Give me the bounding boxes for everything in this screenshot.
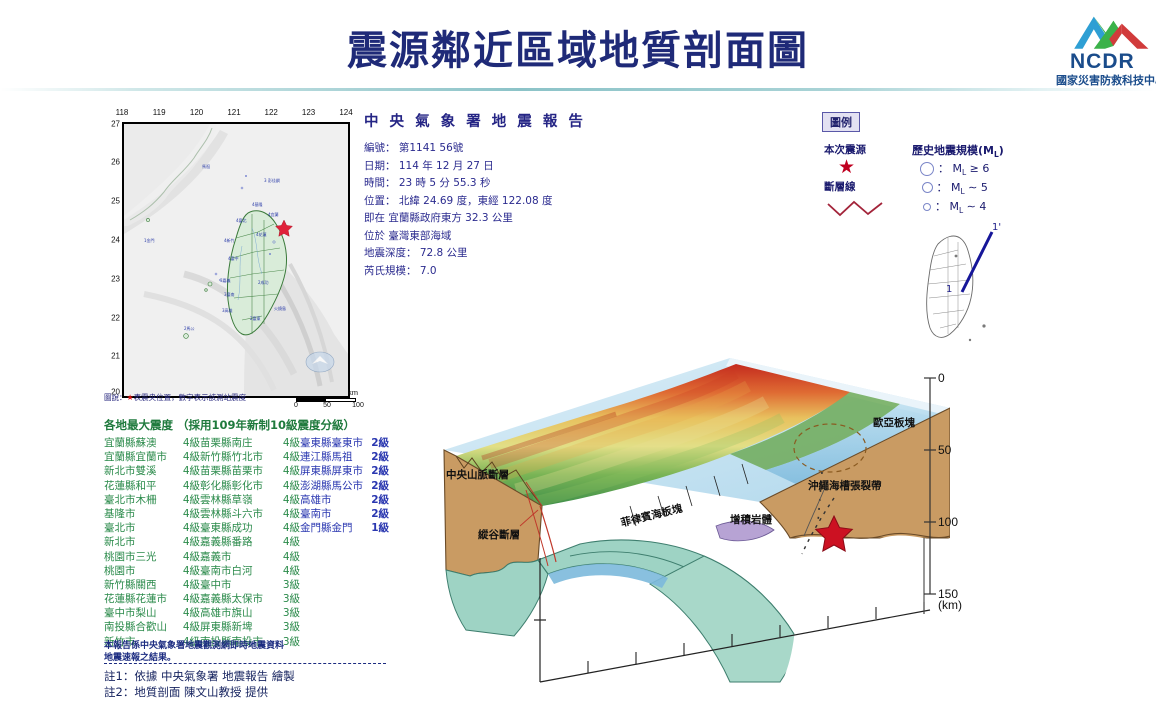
- legend-panel: 圖例 本次震源 ★ 斷層線 歷史地震規模(ML) ： ML ≥ 6： ML ∼ …: [822, 112, 1052, 232]
- station-name: 桃園市三光: [104, 550, 172, 564]
- intensity-cell-col2: 臺南市白河4級: [200, 564, 300, 578]
- source-note-line1: 本報告係中央氣象署地震觀測網即時地震資料: [104, 640, 284, 652]
- station-name: 桃園市: [104, 564, 172, 578]
- legend-magnitude-scale: 歷史地震規模(ML) ： ML ≥ 6： ML ∼ 5： ML ∼ 4: [912, 142, 1052, 216]
- svg-text:2成功: 2成功: [258, 279, 269, 285]
- svg-text:4新竹: 4新竹: [224, 237, 235, 243]
- station-intensity: 1級: [364, 521, 389, 535]
- intensity-cell-col3: [300, 635, 389, 649]
- intensity-row: 南投縣合歡山4級屏東縣新埤3級: [104, 620, 389, 634]
- station-intensity: 4級: [272, 464, 300, 478]
- lat-tick: 27: [111, 120, 120, 129]
- lat-tick: 26: [111, 158, 120, 167]
- slide-root: 震源鄰近區域地質剖面圖 NCDR 國家災害防救科技中心 118 119 120 …: [0, 0, 1156, 720]
- map-graphic: 馬祖 3 彭佳嶼 4基隆 4宜蘭 4臺北 4新竹 4臺中 4花蓮 3嘉義 3臺南…: [124, 124, 348, 396]
- lon-tick: 118: [116, 108, 129, 117]
- legend-magnitude-text: ： ML ≥ 6: [938, 160, 989, 177]
- station-name: 新北市: [104, 535, 172, 549]
- intensity-cell-col2: 高雄市旗山3級: [200, 606, 300, 620]
- station-intensity: 2級: [364, 493, 389, 507]
- intensity-cell-col3: 屏東縣屏東市2級: [300, 464, 389, 478]
- cross-section-label-start: 1: [946, 284, 952, 295]
- station-intensity: 4級: [172, 535, 200, 549]
- report-line-location: 位置： 北緯 24.69 度，東經 122.08 度: [364, 193, 624, 211]
- intensity-row: 臺北市木柵4級雲林縣草嶺4級高雄市2級: [104, 493, 389, 507]
- intensity-cell-col2: 臺東縣成功4級: [200, 521, 300, 535]
- legend-magnitude-title-text: 歷史地震規模(M: [912, 144, 994, 157]
- station-intensity: 4級: [172, 550, 200, 564]
- intensity-cell-col2: 苗栗縣苗栗市4級: [200, 464, 300, 478]
- station-name: 臺北市: [104, 521, 172, 535]
- legend-symbols: 本次震源 ★ 斷層線: [824, 142, 902, 223]
- intensity-cell-col3: [300, 620, 389, 634]
- svg-text:3高雄: 3高雄: [222, 307, 233, 313]
- intensity-cell-col1: 臺北市4級: [104, 521, 200, 535]
- station-name: 宜蘭縣宜蘭市: [104, 450, 172, 464]
- station-name: 臺北市木柵: [104, 493, 172, 507]
- intensity-table-title: 各地最大震度 （採用109年新制10級震度分級）: [104, 417, 355, 433]
- svg-text:2臺東: 2臺東: [250, 315, 261, 321]
- svg-text:火燒島: 火燒島: [274, 305, 286, 311]
- station-name: 新竹縣竹北市: [200, 450, 272, 464]
- intensity-row: 宜蘭縣蘇澳4級苗栗縣南庄4級臺東縣臺東市2級: [104, 436, 389, 450]
- legend-star-icon: ★: [838, 157, 902, 179]
- station-name: 新北市雙溪: [104, 464, 172, 478]
- lat-tick: 23: [111, 275, 120, 284]
- intensity-cell-col3: 澎湖縣馬公市2級: [300, 479, 389, 493]
- earthquake-report: 中 央 氣 象 署 地 震 報 告 編號： 第1141 56號 日期： 114 …: [364, 110, 624, 280]
- intensity-row: 臺北市4級臺東縣成功4級金門縣金門1級: [104, 521, 389, 535]
- label-eurasian-plate: 歐亞板塊: [873, 415, 915, 430]
- magnitude-circle-icon: [920, 162, 934, 176]
- station-intensity: 4級: [272, 450, 300, 464]
- station-name: 彰化縣彰化市: [200, 479, 272, 493]
- report-line-time: 時間： 23 時 5 分 55.3 秒: [364, 175, 624, 193]
- station-name: 雲林縣斗六市: [200, 507, 272, 521]
- station-intensity: 3級: [272, 606, 300, 620]
- legend-magnitude-text: ： ML ∼ 5: [937, 179, 988, 196]
- epicenter-map: 118 119 120 121 122 123 124 27 26 25 24 …: [104, 108, 356, 408]
- intensity-cell-col2: 嘉義縣番路4級: [200, 535, 300, 549]
- station-intensity: 4級: [172, 606, 200, 620]
- scalebar-tick: 0: [294, 402, 298, 409]
- station-name: 苗栗縣南庄: [200, 436, 272, 450]
- intensity-row: 新北市4級嘉義縣番路4級: [104, 535, 389, 549]
- station-name: 高雄市旗山: [200, 606, 272, 620]
- geologic-cross-section: 中央山脈斷層 縱谷斷層 菲律賓海板塊 增積岩體 歐亞板塊 沖繩海槽張裂帶: [430, 330, 950, 710]
- map-longitude-axis: 118 119 120 121 122 123 124: [122, 108, 346, 122]
- report-line-region: 位於 臺灣東部海域: [364, 228, 624, 246]
- lat-tick: 25: [111, 197, 120, 206]
- label-central-range-fault: 中央山脈斷層: [446, 467, 509, 482]
- station-name: 屏東縣屏東市: [300, 464, 364, 478]
- map-scalebar: km 0 50 100: [296, 388, 358, 412]
- station-intensity: 3級: [272, 592, 300, 606]
- station-intensity: 4級: [272, 436, 300, 450]
- intensity-row: 臺中市梨山4級高雄市旗山3級: [104, 606, 389, 620]
- fault-line-icon: [824, 198, 890, 218]
- station-name: 苗栗縣苗栗市: [200, 464, 272, 478]
- slide-header: 震源鄰近區域地質剖面圖 NCDR 國家災害防救科技中心: [0, 0, 1156, 90]
- scalebar-ticks: 0 50 100: [296, 402, 358, 412]
- ncdr-logo: NCDR 國家災害防救科技中心: [1056, 12, 1154, 88]
- station-intensity: 4級: [172, 620, 200, 634]
- station-intensity: 3級: [272, 578, 300, 592]
- page-title: 震源鄰近區域地質剖面圖: [0, 18, 1156, 76]
- report-line-depth: 地震深度： 72.8 公里: [364, 245, 624, 263]
- legend-fault-label: 斷層線: [824, 179, 902, 194]
- lon-tick: 122: [264, 108, 277, 117]
- intensity-cell-col1: 宜蘭縣宜蘭市4級: [104, 450, 200, 464]
- lat-tick: 21: [111, 352, 120, 361]
- intensity-cell-col2: 新竹縣竹北市4級: [200, 450, 300, 464]
- station-name: 嘉義縣番路: [200, 535, 272, 549]
- station-intensity: 4級: [172, 521, 200, 535]
- intensity-cell-col2: 嘉義市4級: [200, 550, 300, 564]
- intensity-cell-col3: 臺南市2級: [300, 507, 389, 521]
- legend-magnitude-title: 歷史地震規模(ML): [912, 142, 1052, 159]
- station-name: 臺南市: [300, 507, 364, 521]
- lon-tick: 119: [153, 108, 166, 117]
- intensity-row: 花蓮縣和平4級彰化縣彰化市4級澎湖縣馬公市2級: [104, 479, 389, 493]
- intensity-cell-col3: 臺東縣臺東市2級: [300, 436, 389, 450]
- map-canvas[interactable]: 馬祖 3 彭佳嶼 4基隆 4宜蘭 4臺北 4新竹 4臺中 4花蓮 3嘉義 3臺南…: [122, 122, 350, 398]
- intensity-cell-col1: 宜蘭縣蘇澳4級: [104, 436, 200, 450]
- cross-section-label-end: 1': [992, 222, 1001, 233]
- station-intensity: 4級: [272, 521, 300, 535]
- station-intensity: 4級: [172, 436, 200, 450]
- intensity-row: 新北市雙溪4級苗栗縣苗栗市4級屏東縣屏東市2級: [104, 464, 389, 478]
- intensity-cell-col3: [300, 550, 389, 564]
- station-intensity: 2級: [364, 464, 389, 478]
- station-intensity: 4級: [272, 479, 300, 493]
- svg-text:馬祖: 馬祖: [202, 163, 210, 169]
- report-line-number: 編號： 第1141 56號: [364, 140, 624, 158]
- station-name: 臺南市白河: [200, 564, 272, 578]
- intensity-table: 宜蘭縣蘇澳4級苗栗縣南庄4級臺東縣臺東市2級宜蘭縣宜蘭市4級新竹縣竹北市4級連江…: [104, 436, 389, 649]
- lat-tick: 22: [111, 314, 120, 323]
- intensity-cell-col1: 桃園市三光4級: [104, 550, 200, 564]
- map-caption-prefix: 圖說：: [104, 393, 127, 402]
- intensity-row: 新竹縣關西4級臺中市3級: [104, 578, 389, 592]
- station-name: 宜蘭縣蘇澳: [104, 436, 172, 450]
- station-intensity: 4級: [272, 493, 300, 507]
- intensity-row: 宜蘭縣宜蘭市4級新竹縣竹北市4級連江縣馬祖2級: [104, 450, 389, 464]
- intensity-cell-col2: 屏東縣新埤3級: [200, 620, 300, 634]
- station-intensity: 4級: [172, 464, 200, 478]
- map-caption: 圖說：★表震央位置，數字表示該測站震度: [104, 392, 304, 403]
- station-intensity: 3級: [272, 620, 300, 634]
- intensity-cell-col1: 新北市4級: [104, 535, 200, 549]
- intensity-cell-col2: 嘉義縣太保市3級: [200, 592, 300, 606]
- intensity-cell-col2: 苗栗縣南庄4級: [200, 436, 300, 450]
- lon-tick: 124: [339, 108, 352, 117]
- scalebar-tick: 100: [352, 402, 364, 409]
- intensity-cell-col2: 雲林縣草嶺4級: [200, 493, 300, 507]
- intensity-cell-col2: 臺中市3級: [200, 578, 300, 592]
- intensity-cell-col2: 雲林縣斗六市4級: [200, 507, 300, 521]
- station-name: 金門縣金門: [300, 521, 364, 535]
- intensity-cell-col3: [300, 535, 389, 549]
- intensity-cell-col1: 臺北市木柵4級: [104, 493, 200, 507]
- station-name: 雲林縣草嶺: [200, 493, 272, 507]
- report-title: 中 央 氣 象 署 地 震 報 告: [364, 110, 624, 131]
- station-intensity: 2級: [364, 507, 389, 521]
- intensity-row: 桃園市三光4級嘉義市4級: [104, 550, 389, 564]
- intensity-cell-col3: [300, 592, 389, 606]
- intensity-cell-col1: 桃園市4級: [104, 564, 200, 578]
- ncdr-logo-subtitle: 國家災害防救科技中心: [1056, 72, 1156, 88]
- svg-text:3臺南: 3臺南: [224, 291, 235, 297]
- legend-magnitude-row-2: ： ML ∼ 4: [920, 197, 1052, 216]
- intensity-cell-col1: 臺中市梨山4級: [104, 606, 200, 620]
- station-intensity: 2級: [364, 479, 389, 493]
- station-name: 基隆市: [104, 507, 172, 521]
- svg-text:3 彭佳嶼: 3 彭佳嶼: [264, 177, 280, 183]
- notes-divider: [104, 663, 386, 665]
- station-intensity: 4級: [272, 550, 300, 564]
- legend-magnitude-text: ： ML ∼ 4: [935, 198, 986, 215]
- label-accretionary-wedge: 增積岩體: [730, 512, 772, 527]
- depth-axis: 0 50 100 150 (km): [924, 368, 994, 628]
- legend-epicenter-label: 本次震源: [824, 142, 902, 157]
- station-intensity: 4級: [272, 535, 300, 549]
- station-intensity: 4級: [172, 493, 200, 507]
- station-intensity: 4級: [172, 450, 200, 464]
- intensity-cell-col3: [300, 606, 389, 620]
- report-line-magnitude: 芮氏規模： 7.0: [364, 263, 624, 281]
- station-intensity: 4級: [172, 578, 200, 592]
- report-line-date: 日期： 114 年 12 月 27 日: [364, 158, 624, 176]
- intensity-cell-col3: 連江縣馬祖2級: [300, 450, 389, 464]
- intensity-cell-col1: 新北市雙溪4級: [104, 464, 200, 478]
- station-name: 花蓮縣和平: [104, 479, 172, 493]
- station-name: 嘉義市: [200, 550, 272, 564]
- legend-magnitude-row-0: ： ML ≥ 6: [920, 159, 1052, 178]
- intensity-cell-col1: 新竹縣關西4級: [104, 578, 200, 592]
- intensity-cell-col1: 基隆市4級: [104, 507, 200, 521]
- lon-tick: 123: [302, 108, 315, 117]
- ncdr-logo-mark: [1070, 12, 1154, 52]
- intensity-cell-col2: 彰化縣彰化市4級: [200, 479, 300, 493]
- map-latitude-axis: 27 26 25 24 23 22 21 20: [104, 122, 122, 394]
- station-name: 花蓮縣花蓮市: [104, 592, 172, 606]
- station-intensity: 4級: [272, 564, 300, 578]
- station-name: 臺東縣臺東市: [300, 436, 364, 450]
- svg-text:4花蓮: 4花蓮: [256, 231, 267, 237]
- lat-tick: 24: [111, 236, 120, 245]
- label-okinawa-trough-rift: 沖繩海槽張裂帶: [808, 478, 882, 493]
- report-line-distance: 即在 宜蘭縣政府東方 32.3 公里: [364, 210, 624, 228]
- intensity-cell-col1: 南投縣合歡山4級: [104, 620, 200, 634]
- scalebar-unit: km: [296, 388, 358, 397]
- footnotes: 註1：依據 中央氣象署 地震報告 繪製 註2：地質剖面 陳文山教授 提供: [104, 668, 295, 700]
- intensity-row: 桃園市4級臺南市白河4級: [104, 564, 389, 578]
- station-name: 澎湖縣馬公市: [300, 479, 364, 493]
- intensity-cell-col1: 花蓮縣和平4級: [104, 479, 200, 493]
- depth-axis-line: [924, 368, 994, 628]
- station-name: 臺東縣成功: [200, 521, 272, 535]
- footnote-2: 註2：地質剖面 陳文山教授 提供: [104, 684, 295, 700]
- svg-text:4臺北: 4臺北: [236, 217, 247, 223]
- intensity-cell-col3: 金門縣金門1級: [300, 521, 389, 535]
- cross-section-graphic: [430, 330, 950, 710]
- lon-tick: 120: [190, 108, 203, 117]
- ncdr-logo-text: NCDR: [1070, 50, 1135, 74]
- station-name: 新竹縣關西: [104, 578, 172, 592]
- legend-title: 圖例: [822, 112, 860, 132]
- svg-text:2馬公: 2馬公: [184, 325, 195, 331]
- station-intensity: 4級: [172, 479, 200, 493]
- station-name: 臺中市梨山: [104, 606, 172, 620]
- intensity-cell-col1: 花蓮縣花蓮市4級: [104, 592, 200, 606]
- source-note: 本報告係中央氣象署地震觀測網即時地震資料 地震速報之結果。: [104, 640, 284, 664]
- svg-text:4宜蘭: 4宜蘭: [268, 211, 279, 217]
- station-name: 高雄市: [300, 493, 364, 507]
- intensity-cell-col3: [300, 578, 389, 592]
- station-intensity: 2級: [364, 450, 389, 464]
- station-name: 臺中市: [200, 578, 272, 592]
- legend-magnitude-title-end: ): [999, 144, 1004, 157]
- intensity-cell-col3: [300, 564, 389, 578]
- station-intensity: 4級: [172, 507, 200, 521]
- map-caption-text: 表震央位置，數字表示該測站震度: [134, 393, 247, 402]
- footnote-1: 註1：依據 中央氣象署 地震報告 繪製: [104, 668, 295, 684]
- intensity-row: 基隆市4級雲林縣斗六市4級臺南市2級: [104, 507, 389, 521]
- svg-text:4基隆: 4基隆: [252, 201, 263, 207]
- svg-text:4臺中: 4臺中: [228, 255, 239, 261]
- legend-magnitude-row-1: ： ML ∼ 5: [920, 178, 1052, 197]
- svg-text:3嘉義: 3嘉義: [220, 277, 231, 283]
- station-name: 南投縣合歡山: [104, 620, 172, 634]
- station-intensity: 2級: [364, 436, 389, 450]
- station-intensity: 4級: [272, 507, 300, 521]
- svg-text:1金門: 1金門: [144, 237, 155, 243]
- map-caption-star-icon: ★: [127, 393, 134, 402]
- magnitude-circle-icon: [923, 203, 931, 211]
- intensity-row: 花蓮縣花蓮市4級嘉義縣太保市3級: [104, 592, 389, 606]
- magnitude-circle-icon: [922, 182, 933, 193]
- station-intensity: 4級: [172, 592, 200, 606]
- intensity-cell-col3: 高雄市2級: [300, 493, 389, 507]
- station-name: 屏東縣新埤: [200, 620, 272, 634]
- header-divider: [0, 88, 1156, 91]
- station-intensity: 4級: [172, 564, 200, 578]
- scalebar-tick: 50: [323, 402, 331, 409]
- label-longitudinal-valley-fault: 縱谷斷層: [478, 527, 520, 542]
- station-name: 連江縣馬祖: [300, 450, 364, 464]
- lon-tick: 121: [227, 108, 240, 117]
- station-name: 嘉義縣太保市: [200, 592, 272, 606]
